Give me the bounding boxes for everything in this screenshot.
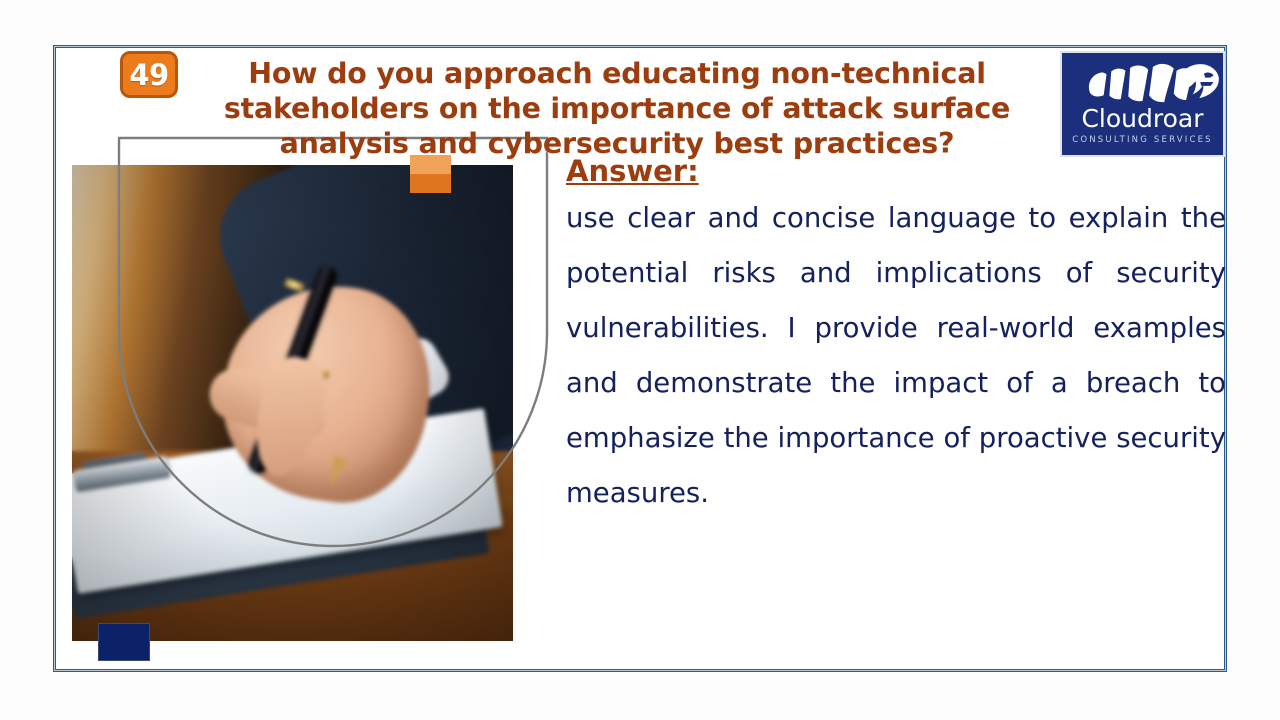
- answer-label: Answer:: [566, 152, 638, 190]
- cloudroar-logo: Cloudroar CONSULTING SERVICES: [1060, 51, 1225, 157]
- question-title: How do you approach educating non-techni…: [188, 56, 1046, 161]
- logo-tagline: CONSULTING SERVICES: [1062, 135, 1223, 145]
- roaring-tiger-cloud-mark: [1062, 57, 1223, 109]
- illustration-photo: Hand writing with a fountain pen on pape…: [72, 165, 513, 641]
- logo-wordmark: Cloudroar: [1062, 105, 1223, 132]
- question-number-badge: 49: [120, 51, 178, 98]
- photo-vignette: [72, 165, 513, 641]
- answer-body-text: use clear and concise language to explai…: [566, 191, 1226, 576]
- slide-canvas: 49 How do you approach educating non-tec…: [0, 0, 1280, 720]
- blue-accent-square: [98, 623, 150, 661]
